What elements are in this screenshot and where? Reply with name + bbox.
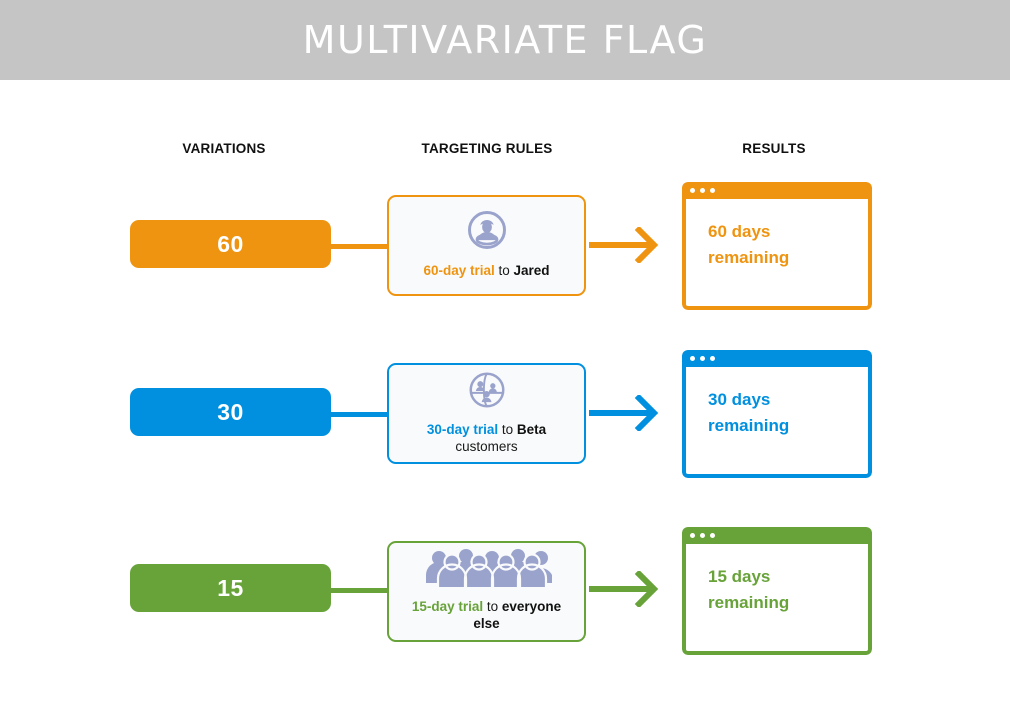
rule-connector-text: to — [498, 422, 517, 437]
window-dot-icon — [700, 533, 705, 538]
result-text: 60 days remaining — [708, 219, 868, 272]
arrow-right-icon — [589, 395, 663, 431]
targeting-rule-text: 15-day trial to everyone else — [399, 598, 574, 633]
targeting-rule-card[interactable]: 60-day trial to Jared — [387, 195, 586, 296]
window-dot-icon — [710, 188, 715, 193]
variation-pill[interactable]: 15 — [130, 564, 331, 612]
single-person-circle-icon — [466, 209, 508, 256]
connector-line — [330, 412, 390, 417]
targeting-rule-card[interactable]: 15-day trial to everyone else — [387, 541, 586, 642]
targeting-rule-text: 30-day trial to Beta customers — [399, 421, 574, 456]
header-band: MULTIVARIATE FLAG — [0, 0, 1010, 80]
targeting-rule-card[interactable]: 30-day trial to Beta customers — [387, 363, 586, 464]
targeting-rule-text: 60-day trial to Jared — [423, 262, 549, 279]
arrow-right-icon — [589, 571, 663, 607]
rule-accent-text: 15-day trial — [412, 599, 483, 614]
rule-connector-text: to — [483, 599, 502, 614]
rule-connector-text: to — [495, 263, 514, 278]
rule-accent-text: 60-day trial — [423, 263, 494, 278]
result-window-card[interactable]: 15 days remaining — [682, 527, 872, 655]
window-dot-icon — [690, 188, 695, 193]
window-dot-icon — [710, 533, 715, 538]
connector-line — [330, 588, 390, 593]
connector-line — [330, 244, 390, 249]
column-header-variations: VARIATIONS — [182, 141, 265, 156]
variation-pill[interactable]: 60 — [130, 220, 331, 268]
window-dot-icon — [710, 356, 715, 361]
rule-accent-text: 30-day trial — [427, 422, 498, 437]
flag-row: 60 60-day trial to Jared — [0, 173, 1010, 323]
result-window-body: 60 days remaining — [682, 199, 872, 310]
column-header-targeting-rules: TARGETING RULES — [422, 141, 553, 156]
window-dot-icon — [690, 356, 695, 361]
rule-emphasis-text: Jared — [514, 263, 550, 278]
window-dot-icon — [690, 533, 695, 538]
crowd-people-icon — [422, 549, 552, 592]
variation-value: 60 — [217, 231, 244, 258]
variation-value: 30 — [217, 399, 244, 426]
column-headers: VARIATIONS TARGETING RULES RESULTS — [0, 141, 1010, 161]
page-title: MULTIVARIATE FLAG — [303, 18, 708, 62]
variation-value: 15 — [217, 575, 244, 602]
group-people-circle-icon — [467, 370, 507, 415]
flag-row: 30 30-day trial to Beta customers — [0, 341, 1010, 491]
result-window-card[interactable]: 60 days remaining — [682, 182, 872, 310]
result-text: 15 days remaining — [708, 564, 868, 617]
result-window-card[interactable]: 30 days remaining — [682, 350, 872, 478]
column-header-results: RESULTS — [742, 141, 805, 156]
variation-pill[interactable]: 30 — [130, 388, 331, 436]
result-window-titlebar — [682, 350, 872, 367]
result-window-body: 30 days remaining — [682, 367, 872, 478]
result-window-body: 15 days remaining — [682, 544, 872, 655]
rule-emphasis-text: Beta — [517, 422, 546, 437]
result-window-titlebar — [682, 527, 872, 544]
window-dot-icon — [700, 356, 705, 361]
rule-tail-text: customers — [455, 439, 517, 454]
window-dot-icon — [700, 188, 705, 193]
flag-row: 15 — [0, 517, 1010, 667]
arrow-right-icon — [589, 227, 663, 263]
result-window-titlebar — [682, 182, 872, 199]
result-text: 30 days remaining — [708, 387, 868, 440]
